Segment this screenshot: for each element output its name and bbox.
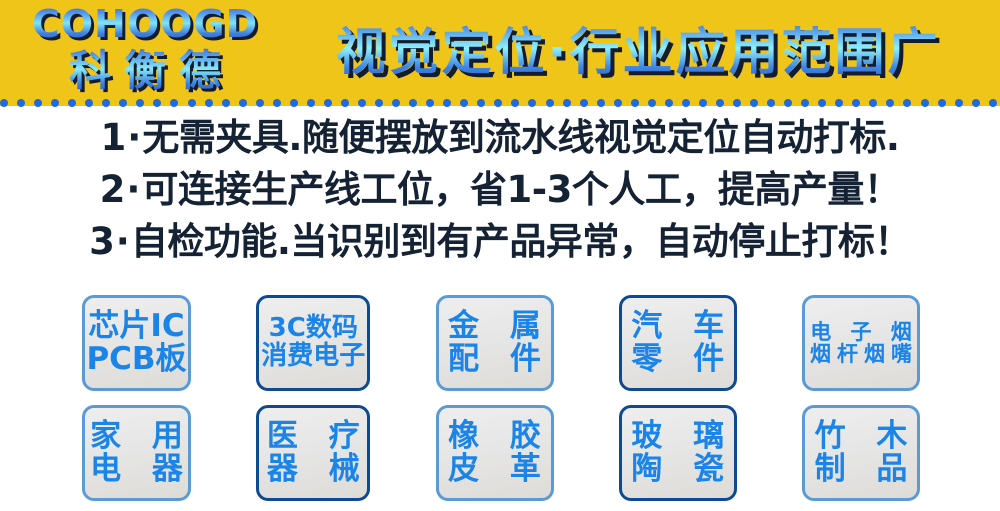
category-line-2: 零 件 xyxy=(621,343,734,376)
category-line-1: 医 疗 xyxy=(257,420,370,453)
divider-dot xyxy=(170,99,178,107)
category-box-metal-parts[interactable]: 金 属 配 件 xyxy=(436,295,554,391)
category-box-e-cigarette[interactable]: 电 子 烟 烟杆烟嘴 xyxy=(802,295,920,391)
divider-dot xyxy=(597,99,605,107)
divider-dot xyxy=(886,99,894,107)
category-line-1: 电 子 烟 xyxy=(804,321,918,343)
feature-text: 自检功能.当识别到有产品异常，自动停止打标！ xyxy=(131,220,911,263)
divider-dot xyxy=(307,99,315,107)
feature-number: 2· xyxy=(100,168,142,211)
category-box-auto-parts[interactable]: 汽 车 零 件 xyxy=(619,295,737,391)
category-line-1: 金 属 xyxy=(438,310,551,343)
divider-dot xyxy=(818,99,826,107)
divider-dot xyxy=(222,99,230,107)
divider-dot xyxy=(34,99,42,107)
divider-dot xyxy=(273,99,281,107)
category-line-2: 配 件 xyxy=(438,343,551,376)
divider-dot xyxy=(443,99,451,107)
brand-logo-latin: COHOOGD xyxy=(14,2,276,46)
feature-line: 3·自检功能.当识别到有产品异常，自动停止打标！ xyxy=(0,216,1000,268)
divider-dot xyxy=(85,99,93,107)
divider-dot xyxy=(409,99,417,107)
divider-dot xyxy=(256,99,264,107)
dotted-divider xyxy=(0,99,1000,107)
divider-dot xyxy=(239,99,247,107)
category-line-1: 芯片IC xyxy=(88,310,184,343)
divider-dot xyxy=(648,99,656,107)
feature-text: 无需夹具.随便摆放到流水线视觉定位自动打标. xyxy=(142,116,899,159)
promo-banner-page: COHOOGD 科衡德 视觉定位·行业应用范围广 1·无需夹具.随便摆放到流水线… xyxy=(0,0,1000,511)
category-line-2: 电 器 xyxy=(82,453,191,486)
category-line-2: PCB板 xyxy=(86,343,186,376)
divider-dot xyxy=(665,99,673,107)
divider-dot xyxy=(17,99,25,107)
divider-dot xyxy=(511,99,519,107)
feature-number: 1· xyxy=(101,116,143,159)
category-line-2: 器 械 xyxy=(257,453,370,486)
divider-dot xyxy=(341,99,349,107)
category-box-medical-device[interactable]: 医 疗 器 械 xyxy=(256,405,370,501)
category-line-2: 皮 革 xyxy=(438,453,551,486)
divider-dot xyxy=(801,99,809,107)
divider-dot xyxy=(580,99,588,107)
category-line-2: 消费电子 xyxy=(261,343,365,371)
divider-dot xyxy=(767,99,775,107)
divider-dot xyxy=(903,99,911,107)
feature-line: 1·无需夹具.随便摆放到流水线视觉定位自动打标. xyxy=(0,112,1000,164)
category-row-1: 芯片IC PCB板 3C数码 消费电子 金 属 配 件 汽 车 零 件 电 子 … xyxy=(82,295,920,392)
divider-dot xyxy=(546,99,554,107)
divider-dot xyxy=(750,99,758,107)
divider-dot xyxy=(426,99,434,107)
category-line-2: 陶 瓷 xyxy=(621,453,734,486)
category-box-home-appliance[interactable]: 家 用 电 器 xyxy=(82,405,191,501)
category-box-chip-ic-pcb[interactable]: 芯片IC PCB板 xyxy=(82,295,191,391)
category-box-rubber-leather[interactable]: 橡 胶 皮 革 xyxy=(436,405,554,501)
divider-dot xyxy=(119,99,127,107)
divider-dot xyxy=(68,99,76,107)
divider-dot xyxy=(699,99,707,107)
brand-logo: COHOOGD 科衡德 xyxy=(14,2,276,102)
divider-dot xyxy=(290,99,298,107)
divider-dot xyxy=(852,99,860,107)
industry-category-grid: 芯片IC PCB板 3C数码 消费电子 金 属 配 件 汽 车 零 件 电 子 … xyxy=(82,295,920,505)
divider-dot xyxy=(955,99,963,107)
divider-dot xyxy=(614,99,622,107)
feature-line: 2·可连接生产线工位，省1-3个人工，提高产量！ xyxy=(0,164,1000,216)
divider-dot xyxy=(528,99,536,107)
divider-dot xyxy=(358,99,366,107)
divider-dot xyxy=(188,99,196,107)
divider-dot xyxy=(784,99,792,107)
category-line-1: 3C数码 xyxy=(269,315,358,343)
category-box-glass-ceramic[interactable]: 玻 璃 陶 瓷 xyxy=(619,405,737,501)
brand-logo-chinese: 科衡德 xyxy=(14,46,276,96)
divider-dot xyxy=(921,99,929,107)
category-row-2: 家 用 电 器 医 疗 器 械 橡 胶 皮 革 玻 璃 陶 瓷 竹 木 制 品 xyxy=(82,405,920,502)
divider-dot xyxy=(835,99,843,107)
divider-dot xyxy=(51,99,59,107)
category-line-1: 汽 车 xyxy=(621,310,734,343)
divider-dot xyxy=(136,99,144,107)
divider-dot xyxy=(102,99,110,107)
divider-dot xyxy=(477,99,485,107)
divider-dot xyxy=(682,99,690,107)
divider-dot xyxy=(972,99,980,107)
category-line-1: 家 用 xyxy=(82,420,191,453)
category-line-1: 竹 木 xyxy=(805,420,918,453)
divider-dot xyxy=(153,99,161,107)
feature-number: 3· xyxy=(89,220,131,263)
divider-dot xyxy=(869,99,877,107)
feature-text: 可连接生产线工位，省1-3个人工，提高产量！ xyxy=(141,168,900,211)
category-box-3c-digital[interactable]: 3C数码 消费电子 xyxy=(256,295,370,391)
divider-dot xyxy=(205,99,213,107)
category-line-1: 橡 胶 xyxy=(438,420,551,453)
category-line-2: 制 品 xyxy=(805,453,918,486)
divider-dot xyxy=(494,99,502,107)
divider-dot xyxy=(392,99,400,107)
divider-dot xyxy=(733,99,741,107)
divider-dot xyxy=(938,99,946,107)
divider-dot xyxy=(631,99,639,107)
divider-dot xyxy=(0,99,8,107)
header-title: 视觉定位·行业应用范围广 xyxy=(288,14,988,90)
divider-dot xyxy=(324,99,332,107)
divider-dot xyxy=(989,99,997,107)
category-box-bamboo-wood[interactable]: 竹 木 制 品 xyxy=(802,405,920,501)
header-band: COHOOGD 科衡德 视觉定位·行业应用范围广 xyxy=(0,0,1000,106)
divider-dot xyxy=(563,99,571,107)
feature-list: 1·无需夹具.随便摆放到流水线视觉定位自动打标. 2·可连接生产线工位，省1-3… xyxy=(0,112,1000,268)
category-line-2: 烟杆烟嘴 xyxy=(804,343,918,365)
divider-dot xyxy=(460,99,468,107)
divider-dot xyxy=(375,99,383,107)
category-line-1: 玻 璃 xyxy=(621,420,734,453)
divider-dot xyxy=(716,99,724,107)
